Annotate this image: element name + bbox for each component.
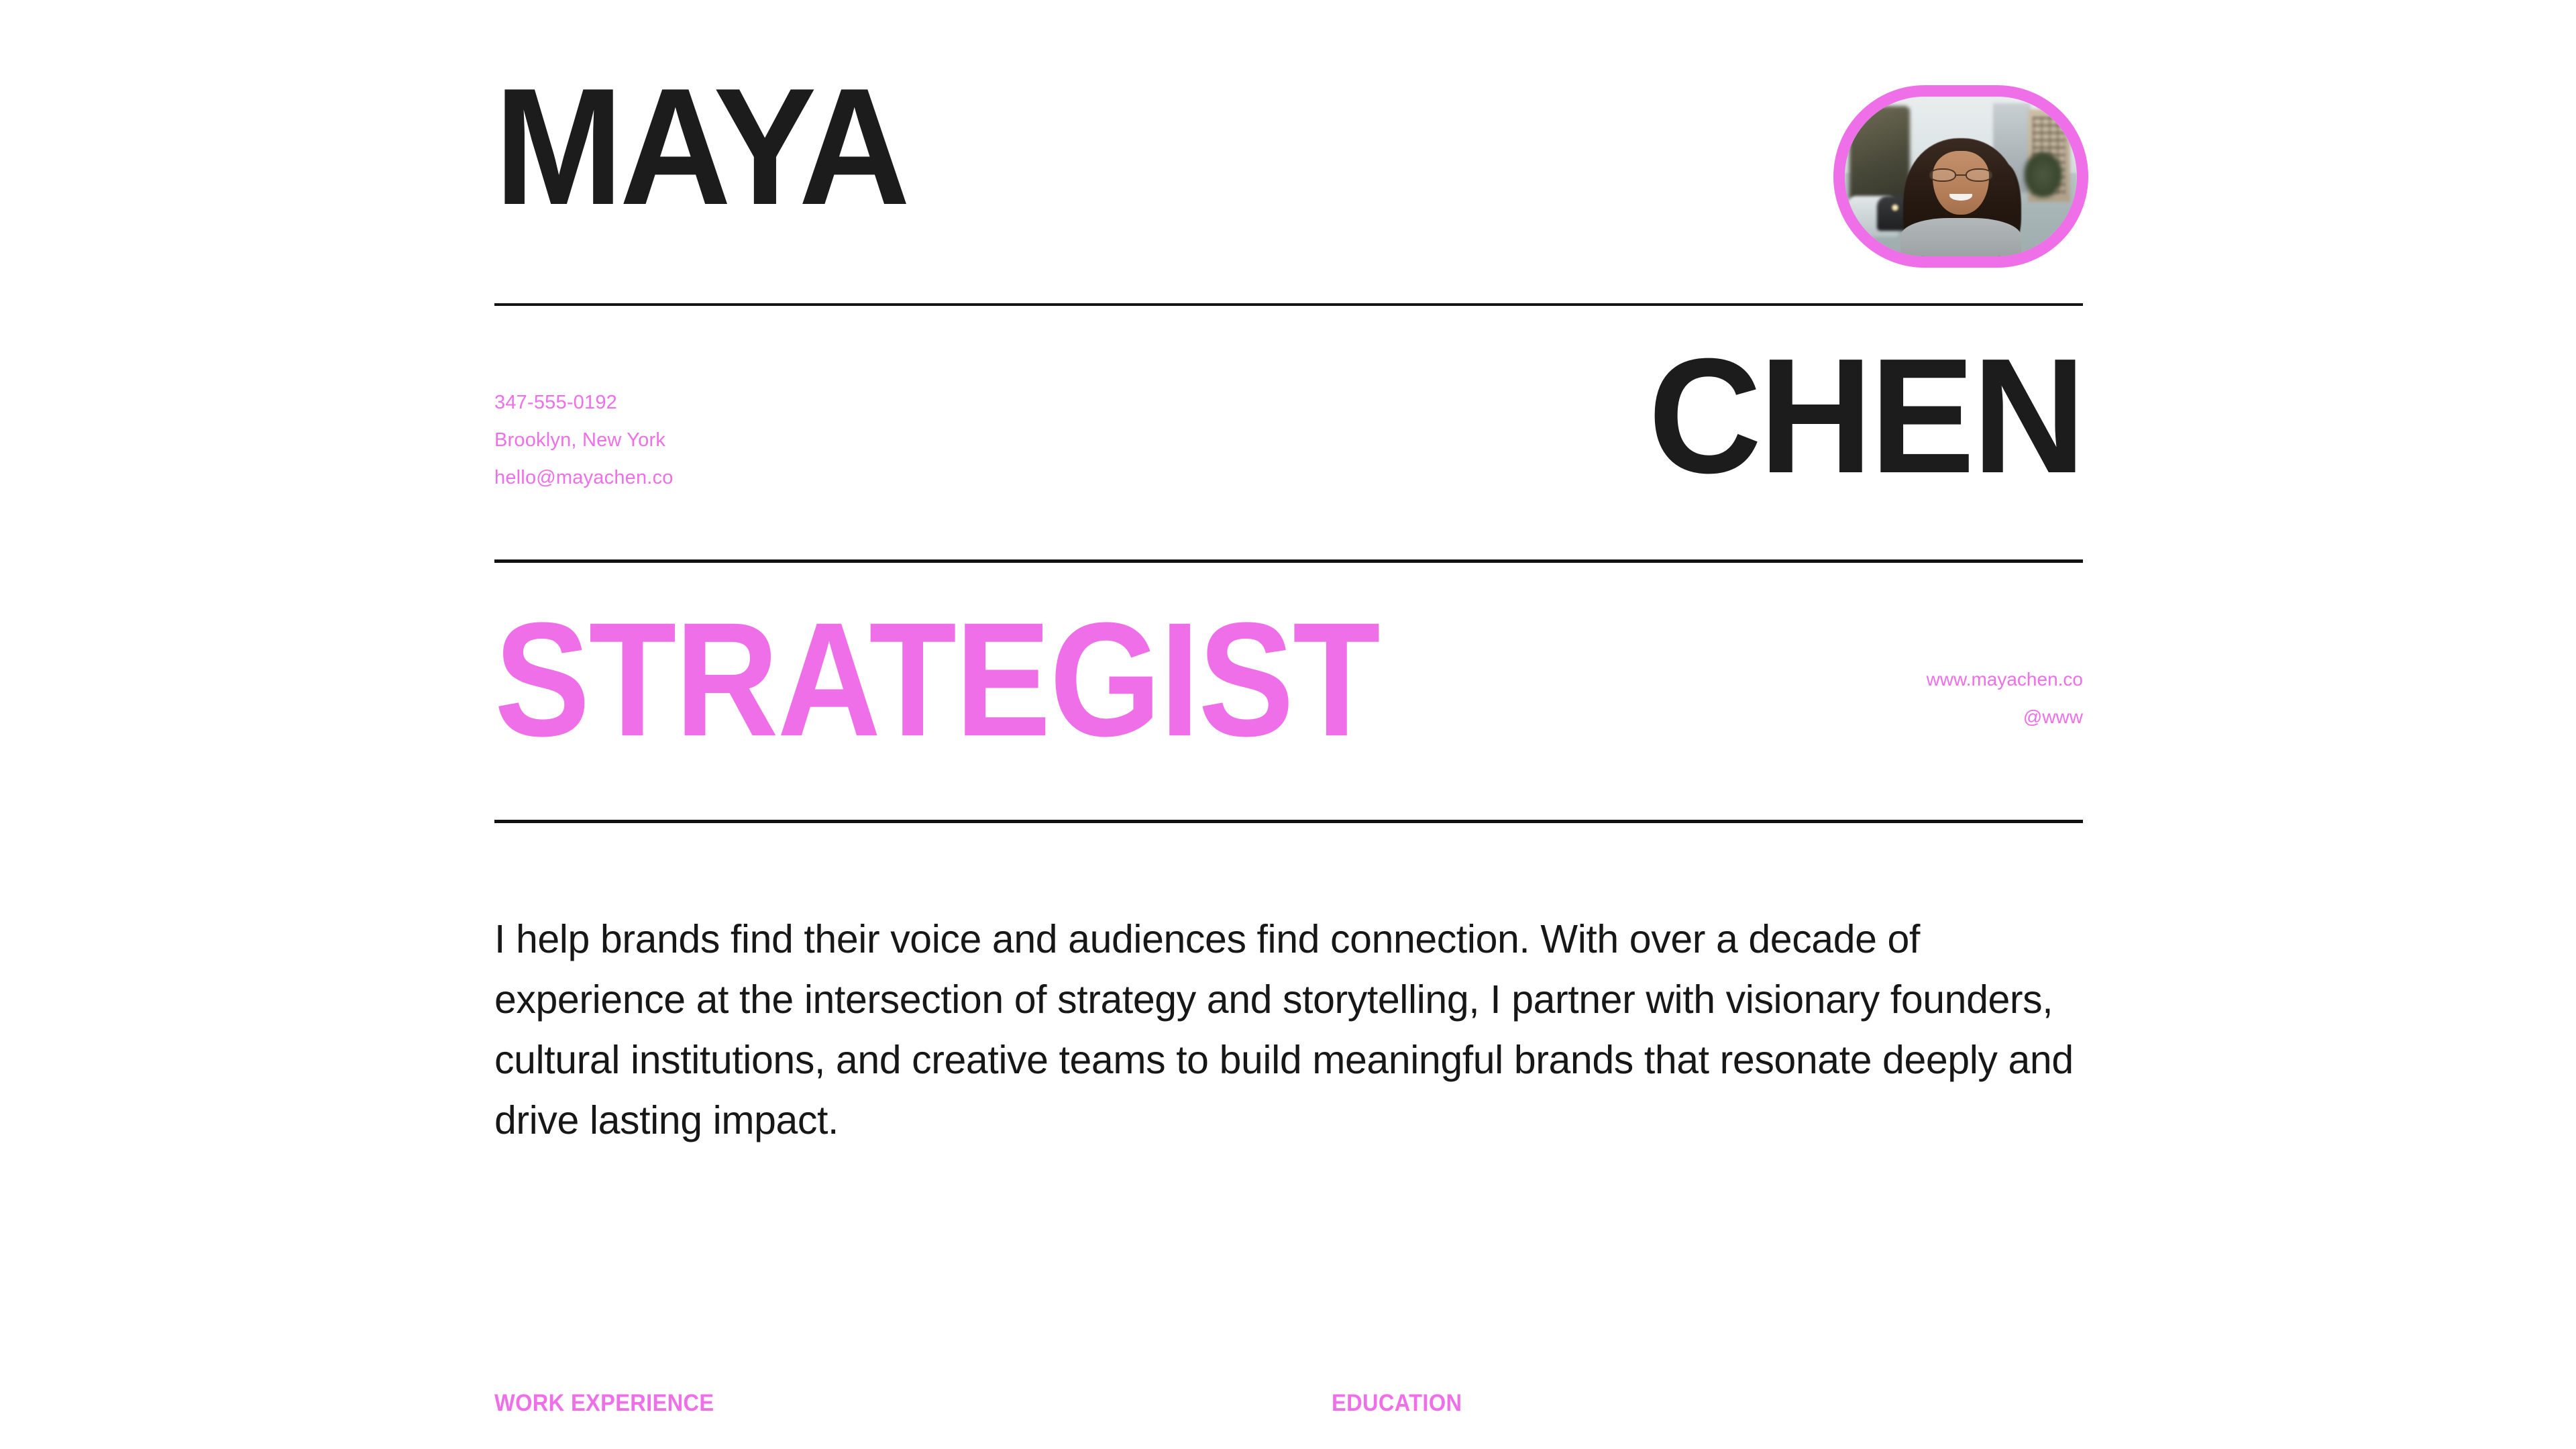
resume-page: MAYA 347-555-0192: [0, 0, 2576, 1449]
photo-torso: [1900, 218, 2021, 256]
avatar: [1833, 85, 2088, 268]
contact-phone[interactable]: 347-555-0192: [494, 384, 674, 421]
social-handle[interactable]: @www: [1927, 698, 2083, 736]
contact-location: Brooklyn, New York: [494, 421, 674, 459]
web-links: www.mayachen.co @www: [1927, 661, 2083, 736]
divider-1: [494, 303, 2083, 306]
section-heading-education: EDUCATION: [1332, 1390, 1462, 1417]
website-link[interactable]: www.mayachen.co: [1927, 661, 2083, 698]
glasses-icon: [1929, 168, 1992, 182]
last-name-heading: CHEN: [1648, 341, 2083, 491]
avatar-photo: [1845, 97, 2077, 256]
contact-email[interactable]: hello@mayachen.co: [494, 459, 674, 496]
section-heading-work-experience: WORK EXPERIENCE: [494, 1390, 714, 1417]
divider-3: [494, 820, 2083, 823]
photo-tree-right: [2023, 151, 2063, 199]
first-name-heading: MAYA: [494, 70, 906, 223]
summary-paragraph: I help brands find their voice and audie…: [494, 909, 2086, 1150]
role-title: STRATEGIST: [494, 602, 1379, 757]
divider-2: [494, 559, 2083, 563]
photo-trees-left: [1849, 106, 1910, 205]
contact-block: 347-555-0192 Brooklyn, New York hello@ma…: [494, 384, 674, 496]
